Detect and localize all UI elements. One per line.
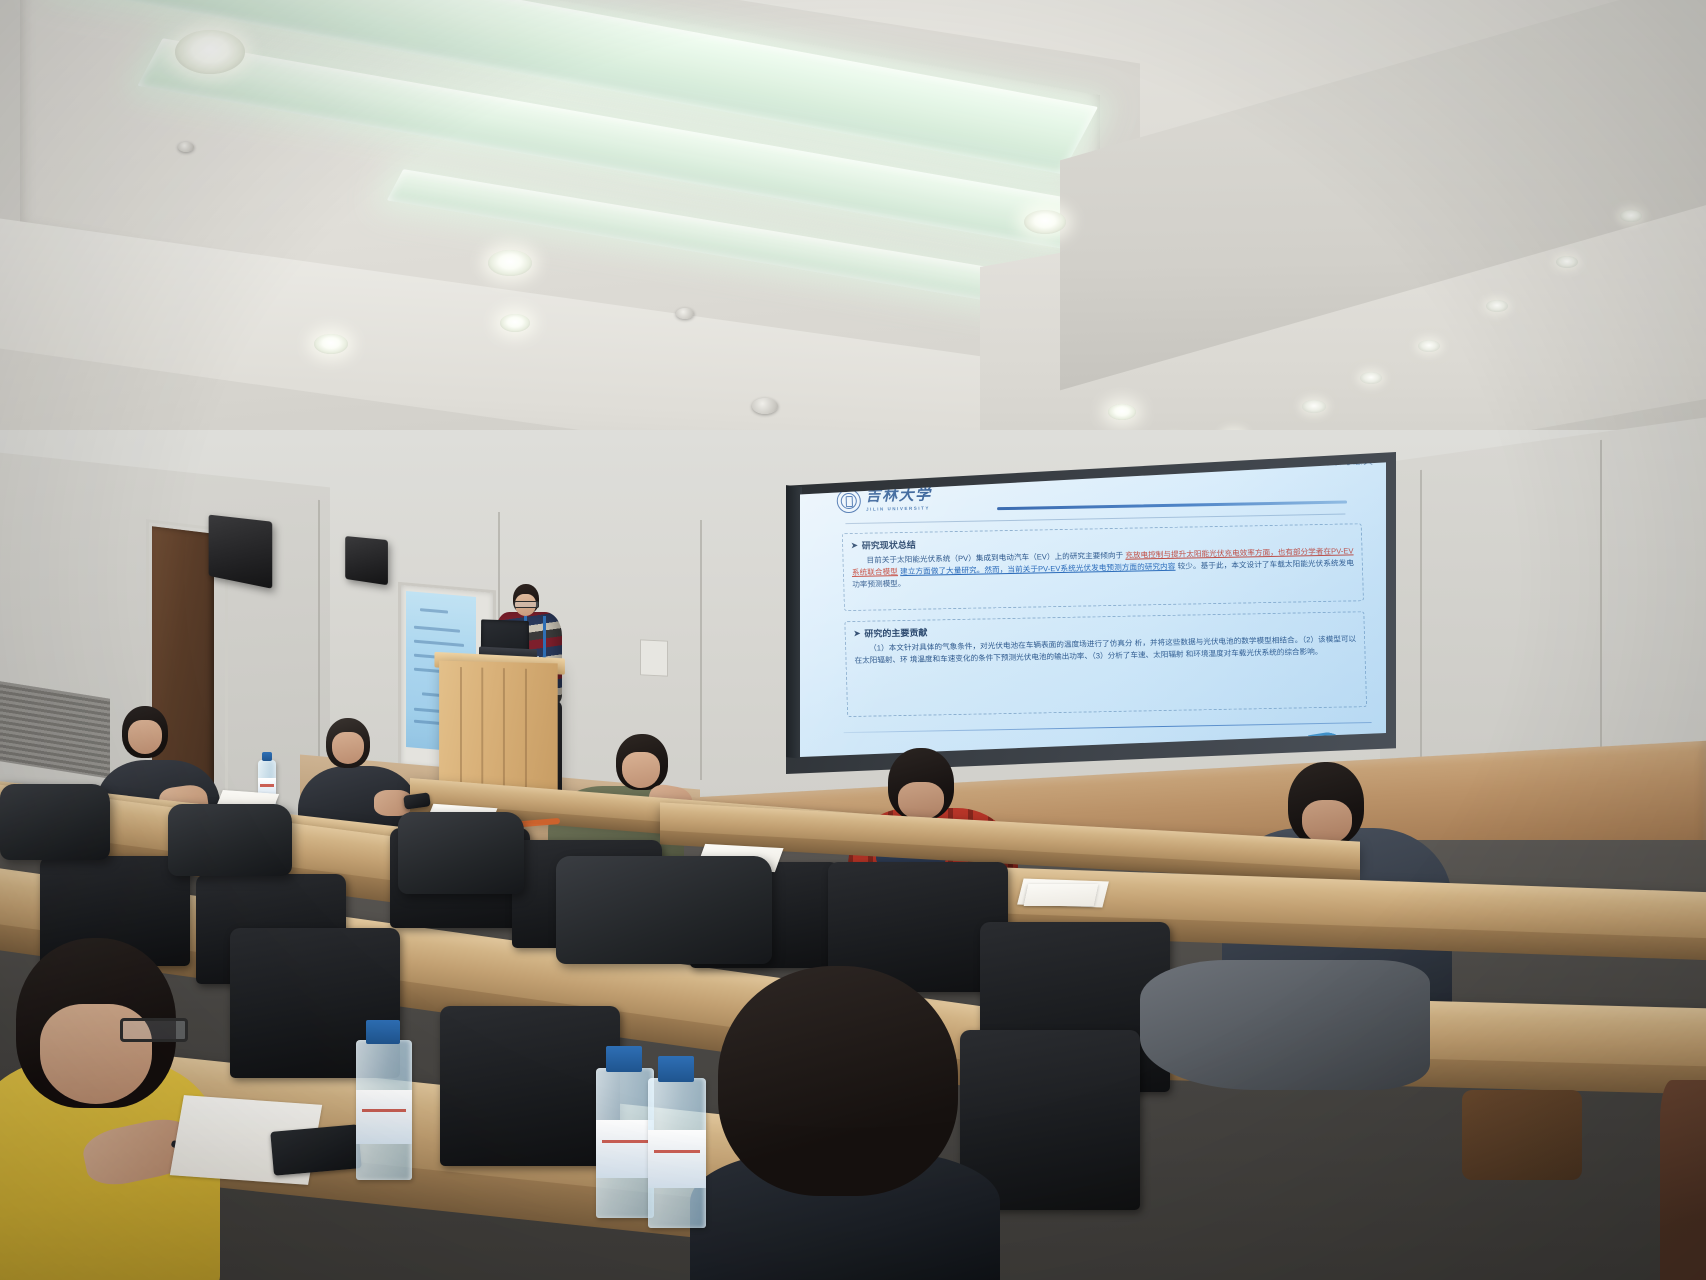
bottle-cap	[366, 1020, 400, 1044]
bag-brown[interactable]	[1462, 1090, 1582, 1180]
slide-section-research-status: ➤ 研究现状总结 目前关于太阳能光伏系统（PV）集成到电动汽车（EV）上的研究主…	[842, 523, 1364, 611]
handout-paper[interactable]	[1024, 884, 1099, 906]
ceiling	[0, 0, 1706, 500]
backpack[interactable]	[556, 856, 772, 964]
downlight-icon	[500, 314, 530, 332]
wall-speaker	[345, 536, 388, 585]
body-line: 境温度和车速变化的条件下预测光伏电池的输出功率、（3）分析了车速、太阳辐射	[910, 649, 1184, 663]
projection-screen-edge	[786, 485, 802, 759]
section-heading-text: 研究现状总结	[862, 538, 916, 552]
wall-control-panel[interactable]	[640, 639, 668, 676]
downlight-icon	[1108, 404, 1136, 420]
downlight-icon	[314, 334, 348, 354]
arrow-bullet-icon: ➤	[854, 629, 861, 638]
backpack[interactable]	[168, 804, 292, 876]
downlight-icon	[1556, 256, 1578, 268]
downlight-icon	[1486, 300, 1508, 312]
slide-footer-rule	[844, 722, 1372, 734]
downlight-icon	[1302, 400, 1326, 413]
bottle-label	[596, 1120, 654, 1178]
university-name-en: JILIN UNIVERSITY	[866, 505, 932, 511]
body-line: 建立方面做了大量研究。然而，当前关于PV-EV系统光伏发电预测方面的研究内容	[900, 562, 1176, 576]
downlight-icon	[1360, 372, 1382, 384]
eyeglasses-icon	[514, 601, 539, 608]
slide-section-main-contributions: ➤ 研究的主要贡献 （1）本文针对具体的气象条件，对光伏电池在车辆表面的温度场进…	[844, 611, 1367, 717]
draped-coat[interactable]	[1140, 960, 1430, 1090]
section-heading-text: 研究的主要贡献	[864, 626, 927, 640]
conference-room-photo: 吉林大学 JILIN UNIVERSITY 研究背景与意义 ➤ 研究现状总结 目…	[0, 0, 1706, 1280]
bottle-cap	[262, 752, 272, 761]
downlight-icon	[175, 30, 245, 74]
downlight-icon	[1418, 340, 1440, 352]
smoke-detector-icon	[752, 398, 778, 414]
university-name-cn: 吉林大学	[865, 489, 931, 505]
smoke-detector-icon	[676, 308, 694, 319]
header-thin-rule	[845, 514, 1345, 525]
wall-speaker	[209, 515, 273, 589]
arrow-bullet-icon: ➤	[851, 541, 858, 550]
smoke-detector-icon	[178, 142, 194, 152]
eyeglasses-icon	[120, 1018, 188, 1042]
downlight-icon	[1620, 210, 1642, 222]
section-body: 目前关于太阳能光伏系统（PV）集成到电动汽车（EV）上的研究主要倾向于 充放电控…	[851, 545, 1354, 590]
wall-seam	[318, 500, 320, 800]
smartphone[interactable]	[270, 1124, 362, 1176]
wall-seam	[700, 520, 702, 780]
wall-seam	[1420, 470, 1422, 800]
header-accent-rule	[997, 500, 1347, 510]
bottle-label	[648, 1130, 706, 1188]
presentation-slide: 吉林大学 JILIN UNIVERSITY 研究背景与意义 ➤ 研究现状总结 目…	[800, 460, 1386, 760]
downlight-icon	[1024, 210, 1066, 234]
bottle-label	[356, 1090, 412, 1144]
university-seal-icon	[836, 489, 861, 513]
chair[interactable]	[440, 1006, 620, 1166]
bottle-cap	[658, 1056, 694, 1082]
backpack[interactable]	[0, 784, 110, 860]
bottle-cap	[606, 1046, 642, 1072]
downlight-icon	[488, 250, 532, 276]
backpack[interactable]	[398, 812, 524, 894]
body-line: 和环境温度对车载光伏系统的综合影响。	[1186, 647, 1323, 659]
